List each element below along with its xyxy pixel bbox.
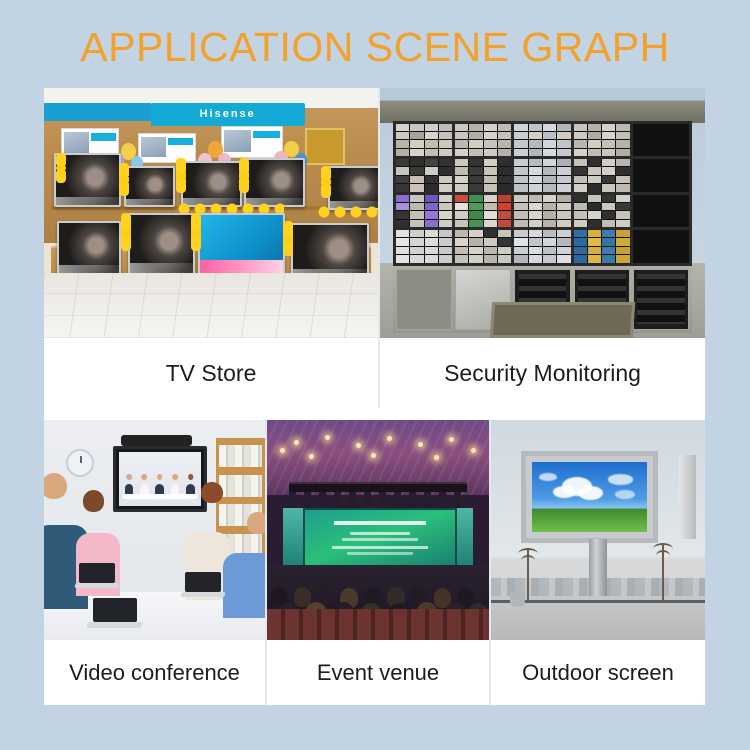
scene-cell-outdoor-screen[interactable]: Outdoor screen: [491, 420, 705, 705]
application-scene-graph-page: APPLICATION SCENE GRAPH Hisense: [0, 0, 750, 750]
video-wall: [393, 121, 692, 266]
outdoor-screen-photo: [491, 420, 705, 640]
outdoor-led-billboard: [521, 451, 658, 543]
stage-led-screen: [303, 508, 458, 574]
caption-security-monitoring: Security Monitoring: [380, 338, 705, 408]
scene-cell-tv-store[interactable]: Hisense: [44, 88, 378, 408]
scene-cell-security-monitoring[interactable]: Security Monitoring: [380, 88, 705, 408]
scene-row-top: Hisense: [44, 88, 705, 408]
tv-store-photo: Hisense: [44, 88, 378, 338]
caption-tv-store: TV Store: [44, 338, 378, 408]
video-conference-photo: [44, 420, 265, 640]
caption-video-conference: Video conference: [44, 640, 265, 705]
scene-grid-card: Hisense: [44, 88, 705, 705]
hisense-sign: Hisense: [151, 103, 305, 126]
event-venue-photo: [267, 420, 489, 640]
caption-outdoor-screen: Outdoor screen: [491, 640, 705, 705]
scene-row-bottom: Video conference: [44, 420, 705, 705]
caption-event-venue: Event venue: [267, 640, 489, 705]
page-title: APPLICATION SCENE GRAPH: [0, 24, 750, 71]
security-monitoring-photo: [380, 88, 705, 338]
conference-camera: [121, 435, 192, 446]
scene-cell-video-conference[interactable]: Video conference: [44, 420, 265, 705]
scene-cell-event-venue[interactable]: Event venue: [267, 420, 489, 705]
